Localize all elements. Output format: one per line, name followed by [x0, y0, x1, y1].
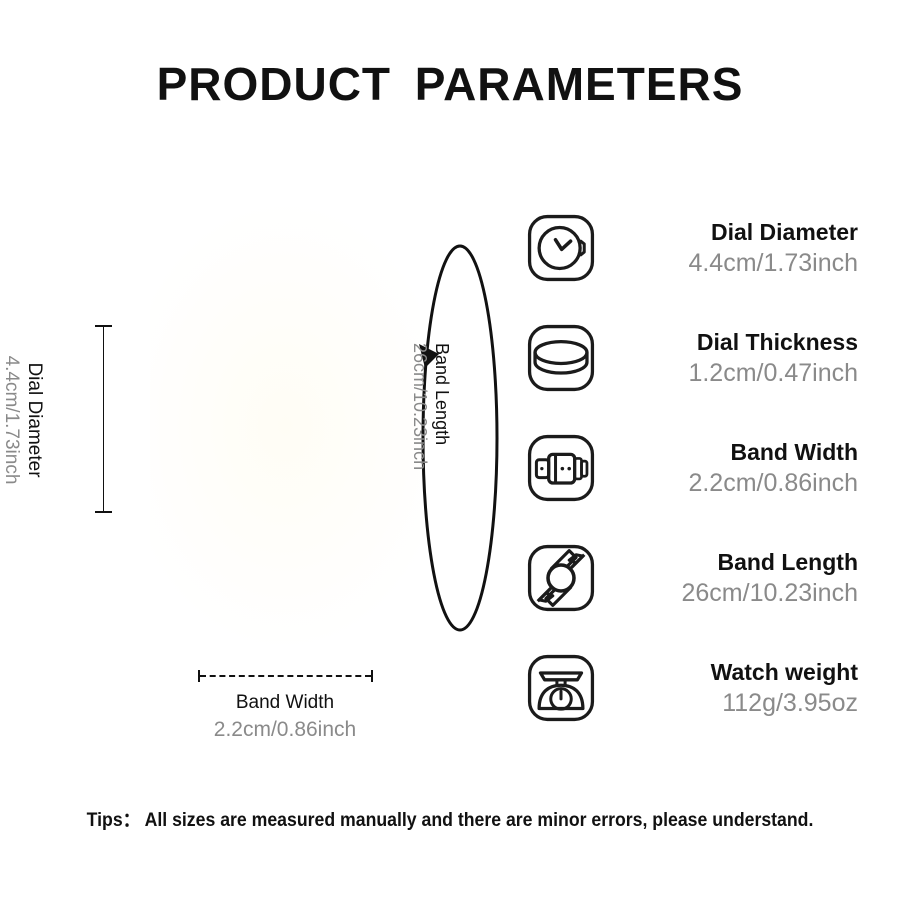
spec-row-watch-weight: Watch weight 112g/3.95oz	[520, 645, 880, 731]
spec-text-band-width: Band Width 2.2cm/0.86inch	[602, 438, 880, 499]
kitchen-scale-icon	[520, 647, 602, 729]
disc-thickness-icon	[520, 317, 602, 399]
spec-row-dial-diameter: Dial Diameter 4.4cm/1.73inch	[520, 205, 880, 291]
spec-value-dial-thickness: 1.2cm/0.47inch	[602, 357, 858, 389]
spec-value-band-width: 2.2cm/0.86inch	[602, 467, 858, 499]
product-illustration-area: Dial Diameter 4.4cm/1.73inch	[30, 170, 510, 790]
band-length-annotation-value: 26cm/10.23inch	[409, 343, 431, 603]
dial-diameter-dimension-line	[103, 325, 104, 513]
spec-value-band-length: 26cm/10.23inch	[602, 577, 858, 609]
spec-list: Dial Diameter 4.4cm/1.73inch Dial Thickn…	[520, 205, 880, 731]
spec-row-band-width: Band Width 2.2cm/0.86inch	[520, 425, 880, 511]
band-width-annotation-label: Band Width	[125, 690, 445, 716]
spec-row-dial-thickness: Dial Thickness 1.2cm/0.47inch	[520, 315, 880, 401]
band-length-annotation-label: Band Length	[431, 343, 453, 603]
spec-label-watch-weight: Watch weight	[602, 658, 858, 687]
dial-diameter-annotation: Dial Diameter 4.4cm/1.73inch	[0, 320, 46, 520]
watch-diagonal-icon	[520, 537, 602, 619]
spec-row-band-length: Band Length 26cm/10.23inch	[520, 535, 880, 621]
spec-value-watch-weight: 112g/3.95oz	[602, 687, 858, 719]
watch-face-icon	[520, 207, 602, 289]
band-clasp-icon	[520, 427, 602, 509]
product-parameters-page: PRODUCT PARAMETERS Dial Diameter 4.4cm/1…	[0, 0, 900, 900]
band-width-annotation-value: 2.2cm/0.86inch	[125, 716, 445, 744]
spec-text-dial-diameter: Dial Diameter 4.4cm/1.73inch	[602, 218, 880, 279]
band-width-annotation: Band Width 2.2cm/0.86inch	[125, 670, 445, 744]
band-width-dashed-line	[200, 675, 371, 677]
spec-label-band-length: Band Length	[602, 548, 858, 577]
tips-note: Tips： All sizes are measured manually an…	[32, 805, 869, 832]
spec-label-dial-thickness: Dial Thickness	[602, 328, 858, 357]
spec-text-dial-thickness: Dial Thickness 1.2cm/0.47inch	[602, 328, 880, 389]
spec-label-dial-diameter: Dial Diameter	[602, 218, 858, 247]
band-width-cap-right	[371, 670, 373, 682]
spec-label-band-width: Band Width	[602, 438, 858, 467]
watch-product-image: 60 65 70 80 90 100 120 140 180 240 300 4…	[150, 205, 420, 675]
spec-text-watch-weight: Watch weight 112g/3.95oz	[602, 658, 880, 719]
band-length-annotation: Band Length 26cm/10.23inch	[405, 238, 515, 638]
spec-text-band-length: Band Length 26cm/10.23inch	[602, 548, 880, 609]
page-title: PRODUCT PARAMETERS	[0, 57, 900, 111]
watch-image-backdrop	[150, 205, 420, 675]
dial-diameter-annotation-value: 4.4cm/1.73inch	[0, 320, 23, 520]
band-width-dimension-line	[198, 670, 373, 682]
dial-diameter-annotation-label: Dial Diameter	[23, 320, 46, 520]
spec-value-dial-diameter: 4.4cm/1.73inch	[602, 247, 858, 279]
